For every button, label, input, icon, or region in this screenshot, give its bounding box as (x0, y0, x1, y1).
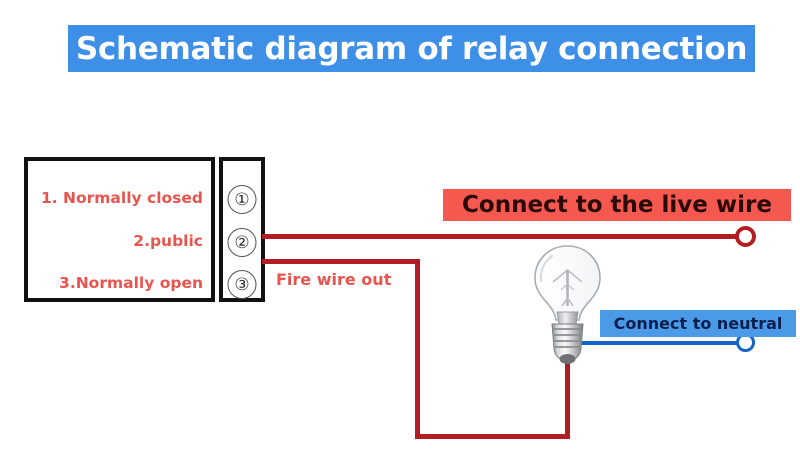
wire-bottom-horizontal (415, 434, 570, 439)
neutral-callout-text: Connect to neutral (614, 314, 783, 333)
live-wire-terminal-ring (735, 226, 756, 247)
light-bulb-icon (505, 240, 630, 365)
schematic-diagram-canvas: Schematic diagram of relay connection 1.… (0, 0, 800, 469)
wire-fire-out-horizontal (262, 259, 420, 264)
live-wire-callout-text: Connect to the live wire (462, 192, 772, 218)
terminal-strip: ① ② ③ (219, 157, 265, 302)
wire-fire-out-vertical (415, 259, 420, 439)
relay-label-normally-closed: 1. Normally closed (41, 189, 203, 207)
relay-body-box: 1. Normally closed 2.public 3.Normally o… (24, 157, 215, 302)
wire-bulb-vertical (565, 355, 570, 435)
relay-label-normally-open: 3.Normally open (59, 274, 203, 292)
live-wire-callout-banner: Connect to the live wire (443, 189, 791, 221)
wire-live-horizontal (262, 234, 746, 239)
relay-label-public: 2.public (133, 232, 203, 250)
terminal-pin-2: ② (228, 228, 257, 257)
fire-wire-out-label: Fire wire out (276, 270, 391, 289)
title-banner: Schematic diagram of relay connection (68, 25, 755, 72)
terminal-pin-3: ③ (228, 270, 257, 299)
terminal-pin-1: ① (228, 185, 257, 214)
page-title: Schematic diagram of relay connection (76, 31, 747, 67)
